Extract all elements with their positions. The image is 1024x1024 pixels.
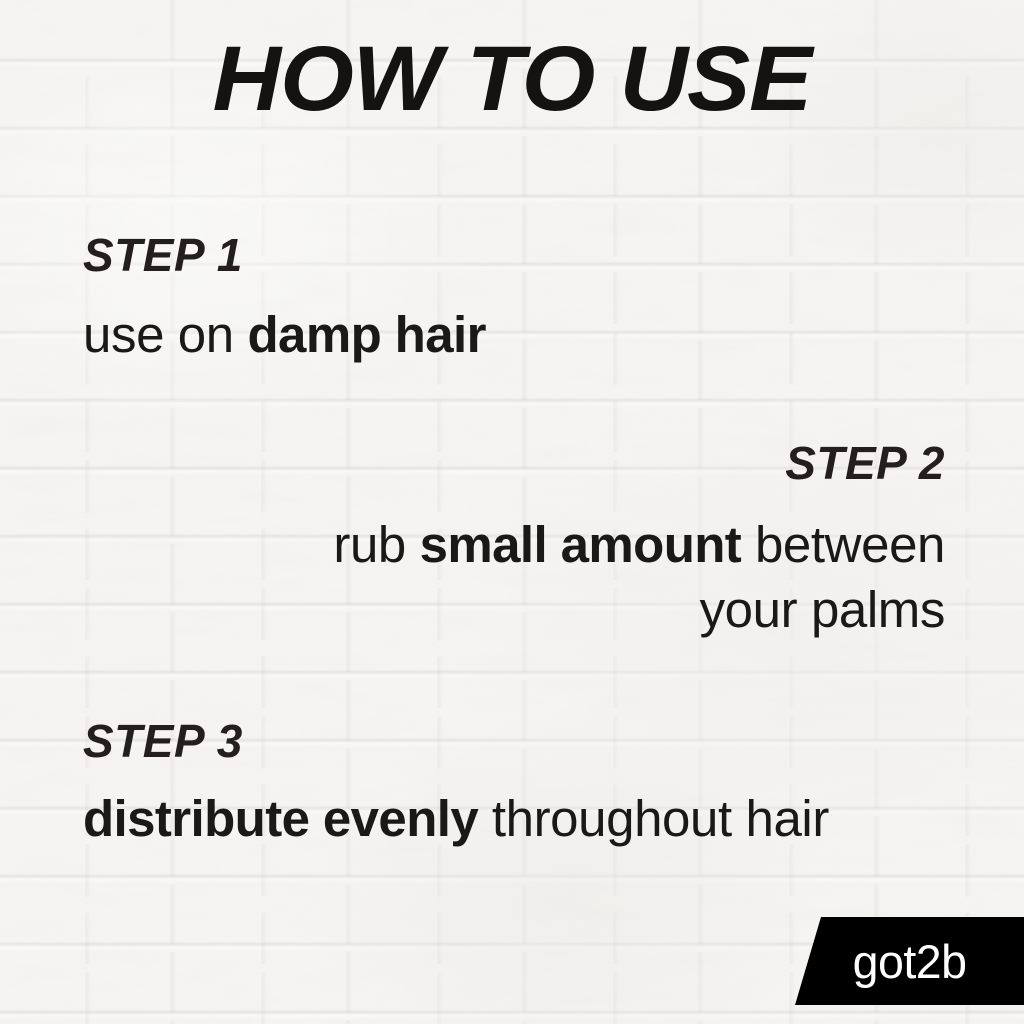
step-1-seg-1: use on xyxy=(83,306,248,363)
step-3-line-1: distribute evenly throughout hair xyxy=(83,790,829,847)
poster-canvas: HOW TO USE STEP 1 use on damp hair STEP … xyxy=(0,0,1024,1024)
step-2-line-2: your palms xyxy=(333,577,945,642)
step-1-line-1: use on damp hair xyxy=(83,306,486,363)
step-label-2: STEP 2 xyxy=(333,440,945,486)
got2b-logo-text: got2b xyxy=(853,938,967,985)
step-label-1: STEP 1 xyxy=(83,232,486,278)
step-2-seg-4: your palms xyxy=(700,581,945,638)
step-label-3: STEP 3 xyxy=(83,718,829,764)
step-3-seg-2: throughout hair xyxy=(478,790,829,847)
step-1-seg-2: damp hair xyxy=(248,306,486,363)
step-body-2: rub small amount between your palms xyxy=(333,512,945,643)
step-2-seg-2: small amount xyxy=(420,516,742,573)
got2b-logo-badge: got2b xyxy=(795,917,1024,1005)
step-block-3: STEP 3 distribute evenly throughout hair xyxy=(83,718,829,851)
page-title: HOW TO USE xyxy=(0,33,1024,125)
step-block-2: STEP 2 rub small amount between your pal… xyxy=(333,440,945,643)
step-2-line-1: rub small amount between xyxy=(333,512,945,577)
step-body-3: distribute evenly throughout hair xyxy=(83,786,829,851)
step-body-1: use on damp hair xyxy=(83,302,486,367)
step-3-seg-1: distribute evenly xyxy=(83,790,478,847)
step-2-seg-1: rub xyxy=(333,516,419,573)
step-block-1: STEP 1 use on damp hair xyxy=(83,232,486,367)
step-2-seg-3: between xyxy=(741,516,945,573)
